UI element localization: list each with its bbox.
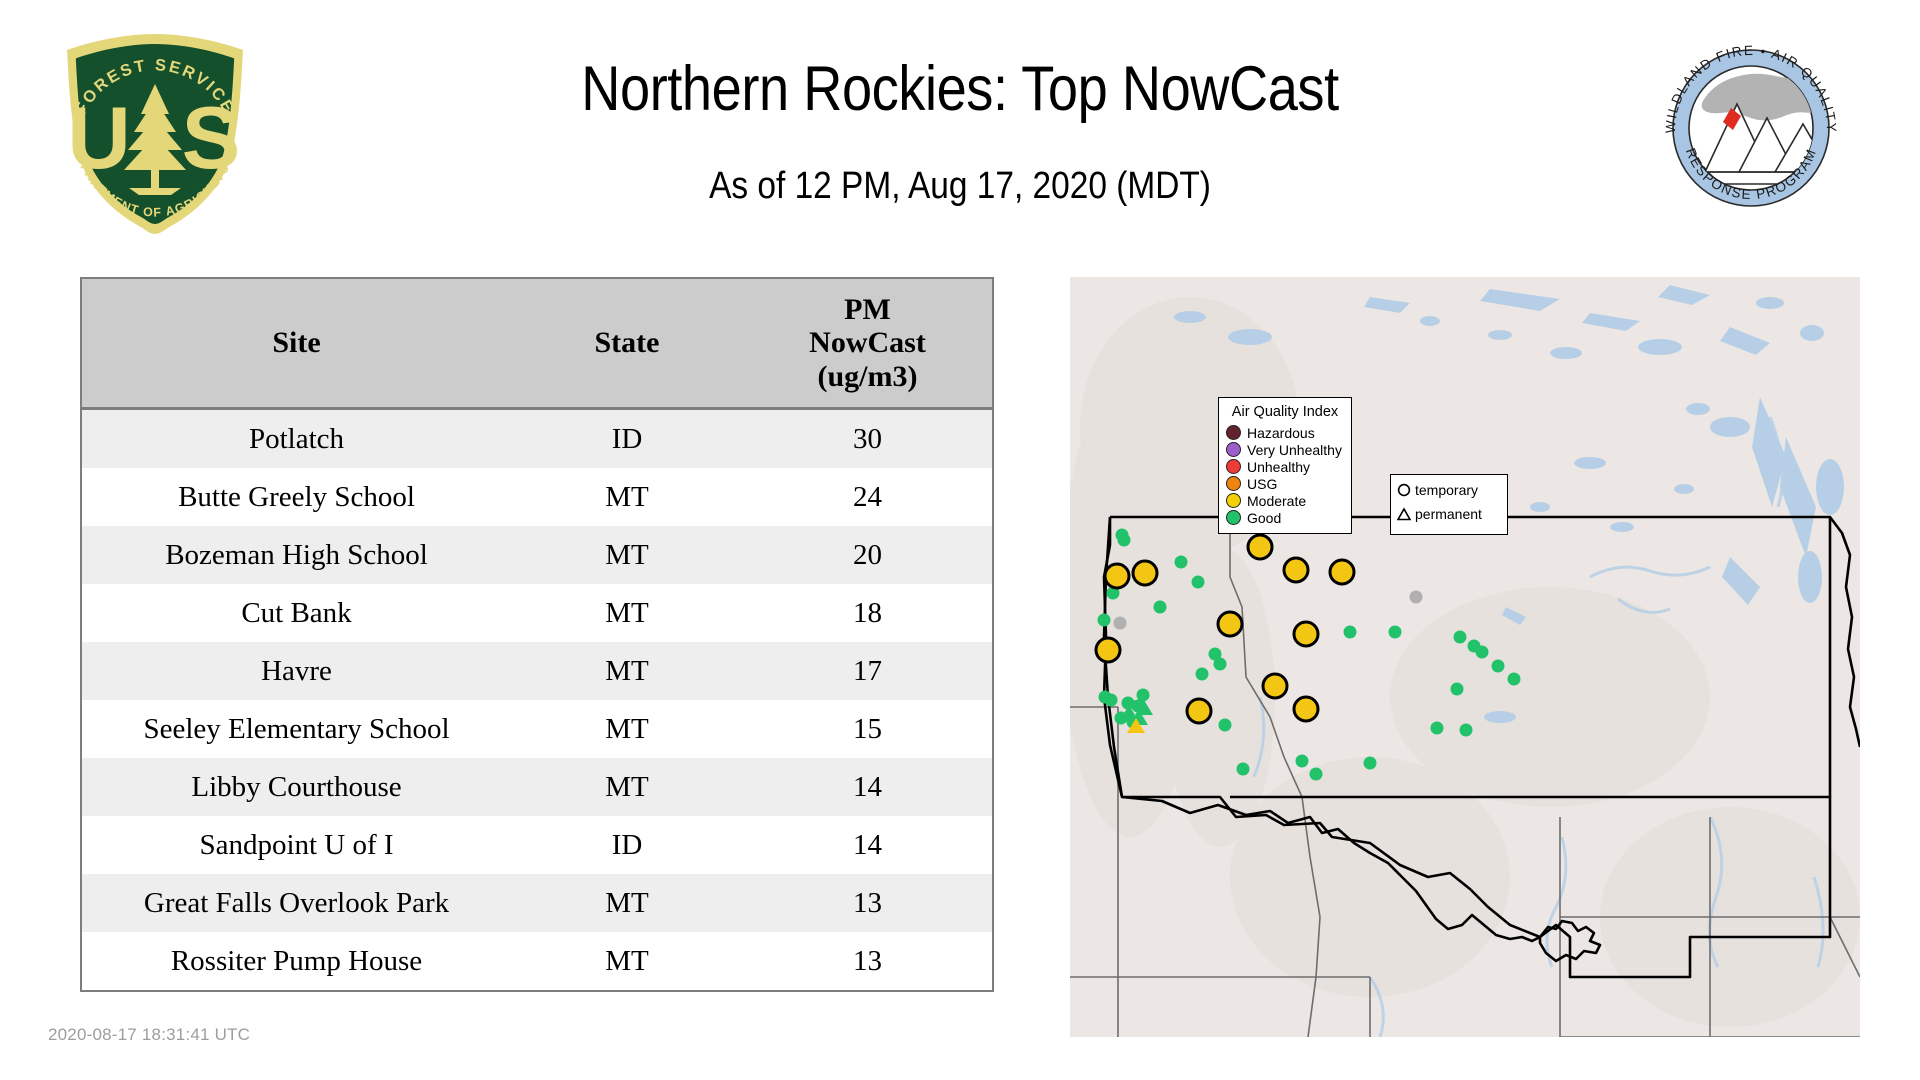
nowcast-table-container: Site State PM NowCast (ug/m3) PotlatchID… xyxy=(80,277,992,992)
monitor-dot-good[interactable] xyxy=(1105,694,1118,707)
monitor-dot-good[interactable] xyxy=(1296,755,1309,768)
state-cell: MT xyxy=(511,932,743,991)
monitor-dot-offline[interactable] xyxy=(1410,591,1423,604)
site-cell: Libby Courthouse xyxy=(81,758,511,816)
table-row: PotlatchID30 xyxy=(81,409,993,469)
pm-nowcast-cell: 15 xyxy=(743,700,993,758)
monitor-dot-good[interactable] xyxy=(1196,668,1209,681)
pm-nowcast-cell: 20 xyxy=(743,526,993,584)
page-header: U S FOREST SERVICE DEPARTMENT OF AGRICUL… xyxy=(0,0,1920,250)
table-body: PotlatchID30Butte Greely SchoolMT24Bozem… xyxy=(81,409,993,992)
monitor-dot-good[interactable] xyxy=(1118,534,1131,547)
pm-nowcast-cell: 30 xyxy=(743,409,993,469)
state-cell: MT xyxy=(511,468,743,526)
usfs-shield-logo: U S FOREST SERVICE DEPARTMENT OF AGRICUL… xyxy=(55,28,255,238)
monitor-dot-good[interactable] xyxy=(1219,719,1232,732)
page-subtitle: As of 12 PM, Aug 17, 2020 (MDT) xyxy=(362,165,1559,208)
site-cell: Bozeman High School xyxy=(81,526,511,584)
site-cell: Butte Greely School xyxy=(81,468,511,526)
pm-nowcast-cell: 13 xyxy=(743,874,993,932)
pm-nowcast-cell: 14 xyxy=(743,758,993,816)
pm-nowcast-cell: 17 xyxy=(743,642,993,700)
monitor-dot-good[interactable] xyxy=(1364,757,1377,770)
page-title: Northern Rockies: Top NowCast xyxy=(375,56,1545,122)
monitor-dot-moderate[interactable] xyxy=(1104,563,1131,590)
pm-header-line3: (ug/m3) xyxy=(749,360,986,394)
monitor-dot-good[interactable] xyxy=(1508,673,1521,686)
monitor-dot-good[interactable] xyxy=(1451,683,1464,696)
column-header-state: State xyxy=(511,278,743,409)
pm-nowcast-cell: 18 xyxy=(743,584,993,642)
site-cell: Havre xyxy=(81,642,511,700)
monitor-marker-permanent[interactable] xyxy=(1135,700,1153,715)
site-cell: Sandpoint U of I xyxy=(81,816,511,874)
table-row: Butte Greely SchoolMT24 xyxy=(81,468,993,526)
state-cell: MT xyxy=(511,700,743,758)
table-row: Libby CourthouseMT14 xyxy=(81,758,993,816)
monitor-dot-moderate[interactable] xyxy=(1186,698,1213,725)
site-cell: Cut Bank xyxy=(81,584,511,642)
monitor-dot-moderate[interactable] xyxy=(1217,611,1244,638)
generated-timestamp: 2020-08-17 18:31:41 UTC xyxy=(48,1025,250,1045)
site-cell: Potlatch xyxy=(81,409,511,469)
table-row: Sandpoint U of IID14 xyxy=(81,816,993,874)
monitor-dot-moderate[interactable] xyxy=(1247,534,1274,561)
monitor-dot-moderate[interactable] xyxy=(1262,673,1289,700)
table-row: Rossiter Pump HouseMT13 xyxy=(81,932,993,991)
state-cell: ID xyxy=(511,816,743,874)
monitor-dot-good[interactable] xyxy=(1492,660,1505,673)
monitor-dot-good[interactable] xyxy=(1460,724,1473,737)
nowcast-table: Site State PM NowCast (ug/m3) PotlatchID… xyxy=(80,277,994,992)
monitor-dot-good[interactable] xyxy=(1175,556,1188,569)
monitor-dot-good[interactable] xyxy=(1237,763,1250,776)
monitor-dot-moderate[interactable] xyxy=(1132,560,1159,587)
table-row: Seeley Elementary SchoolMT15 xyxy=(81,700,993,758)
table-row: Bozeman High SchoolMT20 xyxy=(81,526,993,584)
table-row: Great Falls Overlook ParkMT13 xyxy=(81,874,993,932)
table-header-row: Site State PM NowCast (ug/m3) xyxy=(81,278,993,409)
monitor-dot-good[interactable] xyxy=(1098,614,1111,627)
monitor-dot-good[interactable] xyxy=(1476,646,1489,659)
table-row: Cut BankMT18 xyxy=(81,584,993,642)
monitor-dot-good[interactable] xyxy=(1214,658,1227,671)
monitor-dot-good[interactable] xyxy=(1154,601,1167,614)
state-cell: ID xyxy=(511,409,743,469)
monitor-dot-good[interactable] xyxy=(1454,631,1467,644)
monitor-dot-good[interactable] xyxy=(1192,576,1205,589)
site-cell: Great Falls Overlook Park xyxy=(81,874,511,932)
monitor-dot-moderate[interactable] xyxy=(1329,559,1356,586)
state-cell: MT xyxy=(511,526,743,584)
monitor-dot-moderate[interactable] xyxy=(1293,621,1320,648)
state-cell: MT xyxy=(511,642,743,700)
monitor-dot-offline[interactable] xyxy=(1114,617,1127,630)
pm-nowcast-cell: 14 xyxy=(743,816,993,874)
monitor-dot-moderate[interactable] xyxy=(1293,696,1320,723)
pm-nowcast-cell: 13 xyxy=(743,932,993,991)
monitor-dot-good[interactable] xyxy=(1431,722,1444,735)
title-block: Northern Rockies: Top NowCast As of 12 P… xyxy=(280,56,1640,208)
pm-header-line2: NowCast xyxy=(749,326,986,360)
air-quality-map[interactable]: Air Quality Index HazardousVery Unhealth… xyxy=(1070,277,1860,1037)
column-header-pm-nowcast: PM NowCast (ug/m3) xyxy=(743,278,993,409)
pm-nowcast-cell: 24 xyxy=(743,468,993,526)
monitor-dot-good[interactable] xyxy=(1344,626,1357,639)
table-row: HavreMT17 xyxy=(81,642,993,700)
pm-header-line1: PM xyxy=(749,293,986,327)
column-header-site: Site xyxy=(81,278,511,409)
wildland-fire-air-quality-response-program-logo: WILDLAND FIRE • AIR QUALITY RESPONSE PRO… xyxy=(1653,32,1848,222)
table-header: Site State PM NowCast (ug/m3) xyxy=(81,278,993,409)
monitor-dot-moderate[interactable] xyxy=(1283,557,1310,584)
monitor-dot-good[interactable] xyxy=(1389,626,1402,639)
monitor-marker-permanent[interactable] xyxy=(1127,718,1145,733)
monitor-dot-good[interactable] xyxy=(1310,768,1323,781)
site-cell: Seeley Elementary School xyxy=(81,700,511,758)
state-cell: MT xyxy=(511,758,743,816)
state-cell: MT xyxy=(511,584,743,642)
state-cell: MT xyxy=(511,874,743,932)
monitor-dots-layer xyxy=(1070,277,1860,1037)
site-cell: Rossiter Pump House xyxy=(81,932,511,991)
monitor-dot-moderate[interactable] xyxy=(1095,637,1122,664)
